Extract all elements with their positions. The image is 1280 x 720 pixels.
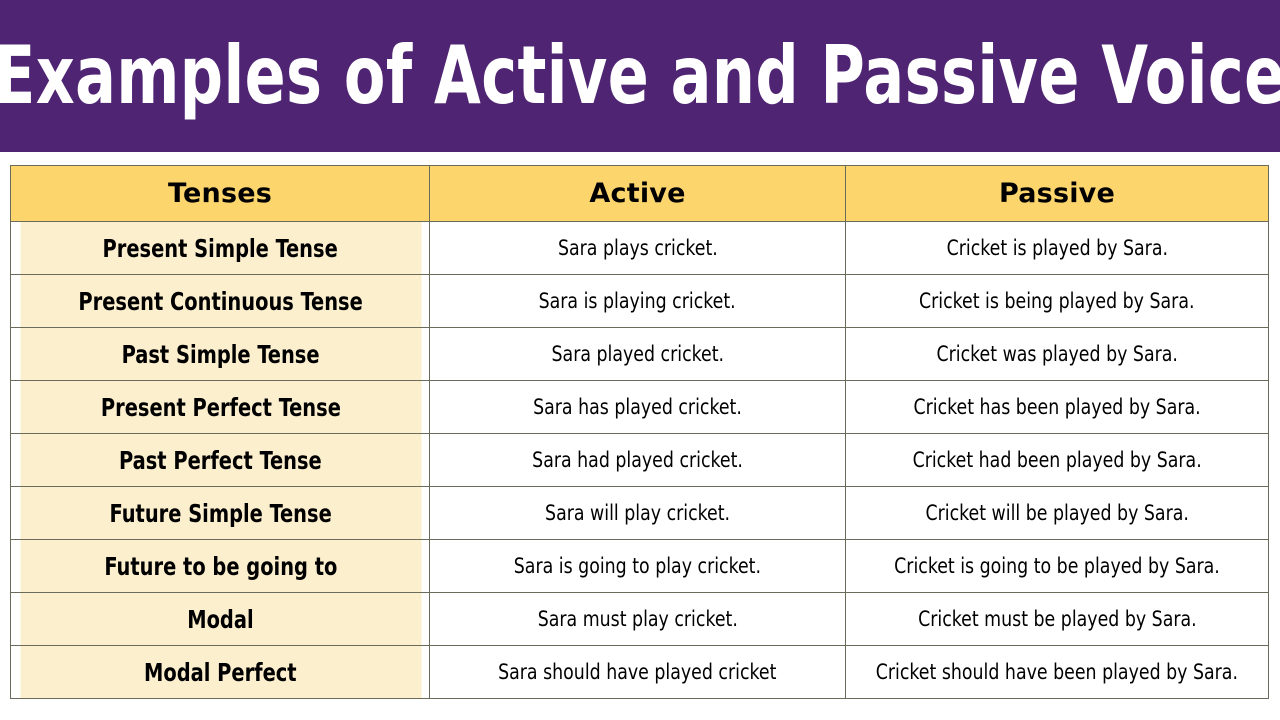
cell-passive-sentence: Cricket is being played by Sara. [846,275,1269,328]
cell-passive-sentence-text: Cricket was played by Sara. [936,343,1177,366]
cell-active-sentence-text: Sara played cricket. [551,343,724,366]
table-row: Past Perfect TenseSara had played cricke… [11,434,1269,487]
cell-passive-sentence: Cricket is going to be played by Sara. [846,540,1269,593]
table-body: Present Simple TenseSara plays cricket.C… [11,222,1269,699]
cell-passive-sentence: Cricket is played by Sara. [846,222,1269,275]
table-row: Present Perfect TenseSara has played cri… [11,381,1269,434]
cell-tense: Modal [19,593,421,646]
column-header-tenses: Tenses [11,166,430,222]
cell-tense: Present Simple Tense [19,222,421,275]
cell-tense-label: Future Simple Tense [109,500,331,528]
column-header-passive: Passive [846,166,1269,222]
page-header-band: Examples of Active and Passive Voice [0,0,1280,152]
table-row: Future Simple TenseSara will play cricke… [11,487,1269,540]
table-row: Past Simple TenseSara played cricket.Cri… [11,328,1269,381]
cell-passive-sentence: Cricket should have been played by Sara. [846,646,1269,699]
table-row: Modal PerfectSara should have played cri… [11,646,1269,699]
cell-passive-sentence: Cricket has been played by Sara. [846,381,1269,434]
cell-tense: Modal Perfect [19,646,421,699]
cell-active-sentence: Sara plays cricket. [430,222,846,275]
cell-tense-label: Present Simple Tense [102,235,337,263]
table-header-row: Tenses Active Passive [11,166,1269,222]
cell-active-sentence: Sara must play cricket. [430,593,846,646]
cell-active-sentence: Sara has played cricket. [430,381,846,434]
cell-active-sentence: Sara had played cricket. [430,434,846,487]
cell-passive-sentence-text: Cricket had been played by Sara. [912,449,1201,472]
cell-tense-label: Future to be going to [103,553,336,581]
cell-passive-sentence: Cricket must be played by Sara. [846,593,1269,646]
table-row: ModalSara must play cricket.Cricket must… [11,593,1269,646]
cell-active-sentence: Sara is playing cricket. [430,275,846,328]
page-title: Examples of Active and Passive Voice [0,36,1280,116]
cell-tense: Present Continuous Tense [19,275,421,328]
cell-passive-sentence-text: Cricket is being played by Sara. [919,290,1195,313]
cell-tense: Past Simple Tense [19,328,421,381]
cell-active-sentence-text: Sara has played cricket. [533,396,742,419]
cell-tense: Past Perfect Tense [19,434,421,487]
table-header: Tenses Active Passive [11,166,1269,222]
table-row: Future to be going toSara is going to pl… [11,540,1269,593]
cell-tense-label: Present Perfect Tense [100,394,340,422]
cell-tense-label: Past Simple Tense [121,341,319,369]
cell-passive-sentence-text: Cricket is going to be played by Sara. [894,555,1220,578]
cell-active-sentence-text: Sara should have played cricket [498,661,776,684]
cell-passive-sentence-text: Cricket has been played by Sara. [913,396,1200,419]
cell-active-sentence-text: Sara must play cricket. [537,608,737,631]
cell-passive-sentence-text: Cricket is played by Sara. [946,237,1167,260]
cell-passive-sentence-text: Cricket should have been played by Sara. [876,661,1238,684]
cell-tense: Future Simple Tense [19,487,421,540]
cell-active-sentence: Sara will play cricket. [430,487,846,540]
cell-active-sentence-text: Sara will play cricket. [545,502,730,525]
cell-active-sentence-text: Sara is playing cricket. [539,290,736,313]
table-row: Present Simple TenseSara plays cricket.C… [11,222,1269,275]
cell-active-sentence-text: Sara had played cricket. [532,449,743,472]
cell-tense-label: Past Perfect Tense [119,447,322,475]
active-passive-voice-table: Tenses Active Passive Present Simple Ten… [10,165,1269,699]
column-header-active: Active [430,166,846,222]
voice-table-container: Tenses Active Passive Present Simple Ten… [10,165,1268,699]
table-row: Present Continuous TenseSara is playing … [11,275,1269,328]
cell-active-sentence-text: Sara plays cricket. [558,237,718,260]
cell-passive-sentence: Cricket had been played by Sara. [846,434,1269,487]
cell-passive-sentence-text: Cricket must be played by Sara. [918,608,1197,631]
cell-active-sentence: Sara played cricket. [430,328,846,381]
cell-tense-label: Modal Perfect [144,659,297,687]
cell-passive-sentence: Cricket was played by Sara. [846,328,1269,381]
cell-passive-sentence: Cricket will be played by Sara. [846,487,1269,540]
cell-tense-label: Present Continuous Tense [78,288,362,316]
cell-active-sentence: Sara is going to play cricket. [430,540,846,593]
cell-active-sentence: Sara should have played cricket [430,646,846,699]
cell-tense: Present Perfect Tense [19,381,421,434]
cell-tense-label: Modal [187,606,253,634]
cell-active-sentence-text: Sara is going to play cricket. [514,555,761,578]
cell-tense: Future to be going to [19,540,421,593]
cell-passive-sentence-text: Cricket will be played by Sara. [925,502,1188,525]
